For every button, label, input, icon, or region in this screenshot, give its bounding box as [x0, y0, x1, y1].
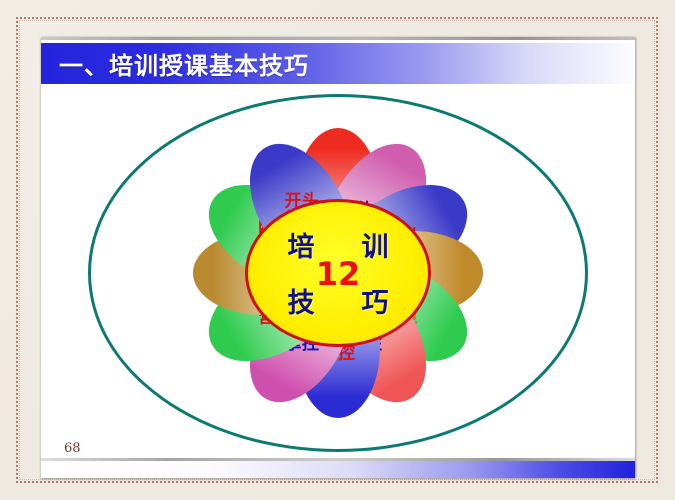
- page-title: 一、培训授课基本技巧: [59, 45, 309, 80]
- center-number: 12: [316, 255, 361, 293]
- presentation-slide: 一、培训授课基本技巧 语言体态教材教学工具教学环境纪律性时间掌控进度掌控氛围营造…: [41, 37, 635, 478]
- slide-title-bar: 一、培训授课基本技巧: [41, 43, 635, 84]
- diagram-center: 培 训 技 巧 12: [245, 199, 431, 347]
- slide-bottom-bar: [41, 461, 635, 478]
- flower-diagram: 语言体态教材教学工具教学环境纪律性时间掌控进度掌控氛围营造课间游戏幽默故事开头结…: [47, 87, 629, 459]
- slide-top-edge: [41, 37, 635, 40]
- center-char-4: 巧: [362, 281, 389, 320]
- center-char-1: 培: [288, 225, 315, 264]
- center-char-2: 训: [362, 225, 389, 264]
- page-number: 68: [64, 441, 81, 456]
- center-char-3: 技: [288, 281, 315, 320]
- slide-frame: 一、培训授课基本技巧 语言体态教材教学工具教学环境纪律性时间掌控进度掌控氛围营造…: [0, 0, 675, 500]
